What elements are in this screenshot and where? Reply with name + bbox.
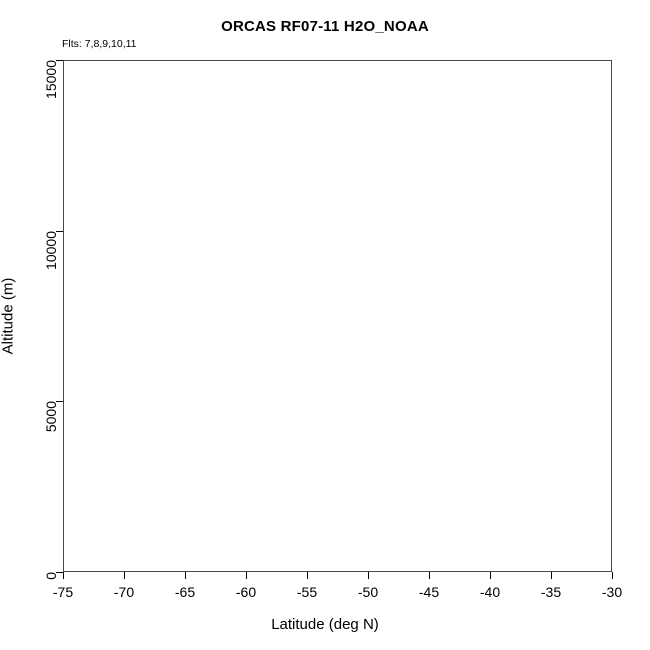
x-tick-label: -50 xyxy=(358,584,378,600)
chart-title: ORCAS RF07-11 H2O_NOAA xyxy=(0,18,650,35)
y-tick-label: 10000 xyxy=(43,231,59,270)
x-tick xyxy=(63,572,64,579)
x-tick-label: -60 xyxy=(236,584,256,600)
plot-frame xyxy=(63,60,612,572)
x-tick xyxy=(612,572,613,579)
x-axis-label: Latitude (deg N) xyxy=(0,616,650,633)
x-tick-label: -75 xyxy=(53,584,73,600)
x-tick xyxy=(429,572,430,579)
y-tick-label: 15000 xyxy=(43,60,59,99)
x-tick xyxy=(185,572,186,579)
x-tick-label: -35 xyxy=(541,584,561,600)
x-tick xyxy=(551,572,552,579)
x-tick-label: -45 xyxy=(419,584,439,600)
y-tick-label: 5000 xyxy=(43,401,59,432)
x-tick-label: -55 xyxy=(297,584,317,600)
x-tick xyxy=(490,572,491,579)
x-tick-label: -30 xyxy=(602,584,622,600)
x-tick xyxy=(368,572,369,579)
x-tick xyxy=(307,572,308,579)
y-tick-label: 0 xyxy=(43,572,59,580)
x-tick xyxy=(246,572,247,579)
figure-canvas: ORCAS RF07-11 H2O_NOAA Flts: 7,8,9,10,11… xyxy=(0,0,650,650)
x-tick xyxy=(124,572,125,579)
x-tick-label: -70 xyxy=(114,584,134,600)
y-axis-label: Altitude (m) xyxy=(0,278,17,355)
x-tick-label: -65 xyxy=(175,584,195,600)
x-tick-label: -40 xyxy=(480,584,500,600)
flights-annotation: Flts: 7,8,9,10,11 xyxy=(62,38,137,50)
